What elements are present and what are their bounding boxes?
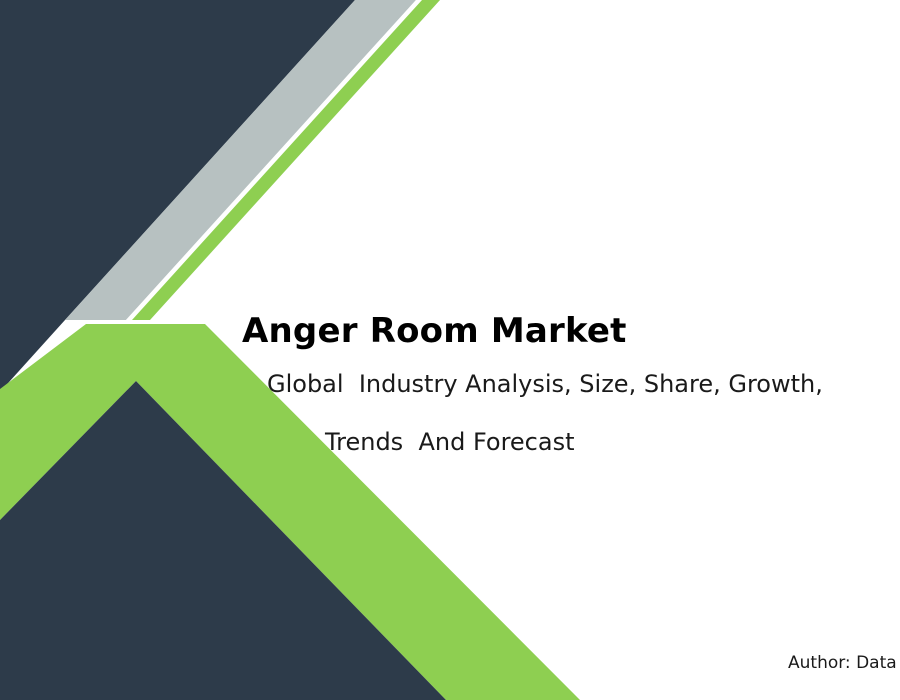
subtitle-line-1: Global Industry Analysis, Size, Share, G…: [267, 368, 823, 400]
subtitle-line-2: Trends And Forecast: [325, 426, 575, 458]
author-credit: Author: Data: [788, 652, 897, 674]
cover-text-layer: Anger Room Market Global Industry Analys…: [0, 0, 900, 700]
report-cover-page: Anger Room Market Global Industry Analys…: [0, 0, 900, 700]
page-title: Anger Room Market: [242, 309, 627, 353]
